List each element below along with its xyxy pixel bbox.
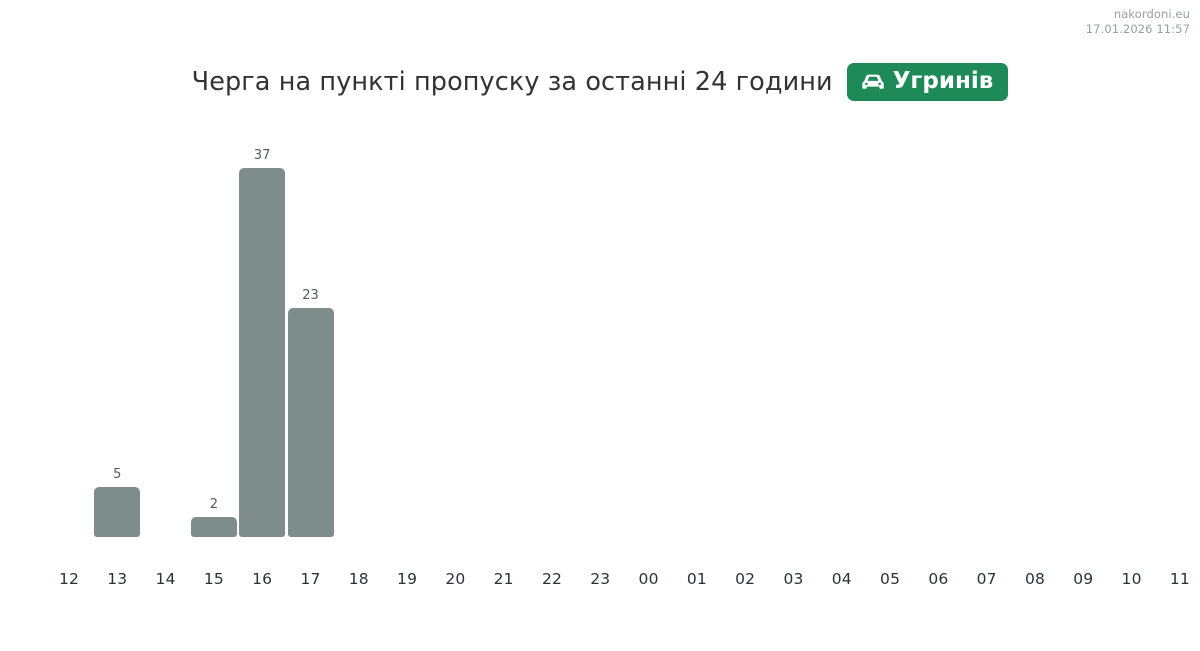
x-axis-tick-23: 23 <box>576 570 624 588</box>
bar-rect[interactable] <box>288 308 334 537</box>
x-axis-tick-14: 14 <box>142 570 190 588</box>
x-axis-tick-01: 01 <box>673 570 721 588</box>
x-axis-tick-05: 05 <box>866 570 914 588</box>
bar-value-label: 23 <box>287 289 335 303</box>
bar-rect[interactable] <box>191 517 237 537</box>
x-axis-tick-17: 17 <box>287 570 335 588</box>
bar-17[interactable]: 23 <box>287 289 335 537</box>
bar-chart: 1251314215371623171819202122230001020304… <box>0 0 1200 651</box>
x-axis-tick-22: 22 <box>528 570 576 588</box>
x-axis-tick-00: 00 <box>625 570 673 588</box>
bar-value-label: 37 <box>238 149 286 163</box>
x-axis-tick-11: 11 <box>1156 570 1200 588</box>
x-axis-tick-09: 09 <box>1059 570 1107 588</box>
x-axis-tick-19: 19 <box>383 570 431 588</box>
bar-rect[interactable] <box>239 168 285 537</box>
x-axis-tick-03: 03 <box>770 570 818 588</box>
x-axis-tick-07: 07 <box>963 570 1011 588</box>
bar-15[interactable]: 2 <box>190 498 238 537</box>
x-axis-tick-12: 12 <box>45 570 93 588</box>
x-axis-tick-21: 21 <box>480 570 528 588</box>
x-axis-tick-04: 04 <box>818 570 866 588</box>
x-axis-tick-15: 15 <box>190 570 238 588</box>
x-axis-tick-20: 20 <box>431 570 479 588</box>
x-axis-tick-10: 10 <box>1108 570 1156 588</box>
bar-16[interactable]: 37 <box>238 149 286 537</box>
x-axis-tick-16: 16 <box>238 570 286 588</box>
x-axis-tick-18: 18 <box>335 570 383 588</box>
bar-rect[interactable] <box>94 487 140 537</box>
x-axis-tick-02: 02 <box>721 570 769 588</box>
x-axis-tick-06: 06 <box>914 570 962 588</box>
bar-value-label: 2 <box>190 498 238 512</box>
bar-13[interactable]: 5 <box>93 468 141 537</box>
x-axis-tick-08: 08 <box>1011 570 1059 588</box>
x-axis-tick-13: 13 <box>93 570 141 588</box>
bar-value-label: 5 <box>93 468 141 482</box>
